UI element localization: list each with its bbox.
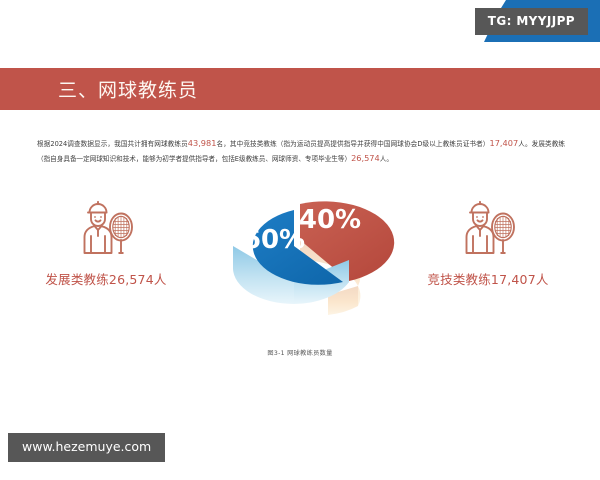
- total-coaches-value: 43,981: [188, 138, 217, 148]
- intro-segment-4: 人。: [380, 155, 393, 163]
- pie-chart-svg: 60% 40%: [178, 186, 414, 336]
- intro-segment-2: 名，其中竞技类教练（指为运动员提高提供指导并获得中国网球协会D级以上教练员证书者…: [216, 140, 489, 148]
- corner-logo-label: 中国网球事业 发展基础数据: [506, 231, 592, 250]
- pie-chart: 60% 40%: [178, 186, 414, 336]
- stat-label-competitive: 竞技类教练17,407人: [408, 269, 568, 288]
- competitive-coaches-value: 17,407: [490, 138, 519, 148]
- section-header-band: 三、网球教练员: [0, 68, 600, 110]
- intro-segment-1: 根据2024调查数据显示，我国共计拥有网球教练员: [37, 140, 188, 148]
- intro-paragraph: 根据2024调查数据显示，我国共计拥有网球教练员43,981名，其中竞技类教练（…: [37, 136, 565, 166]
- page-title: 三、网球教练员: [58, 76, 198, 103]
- coach-racket-icon: [449, 196, 527, 262]
- pie-label-competitive: 40%: [299, 205, 361, 235]
- site-watermark: www.hezemuye.com: [8, 433, 165, 463]
- chart-caption: 图3-1 网球教练员数量: [0, 348, 600, 357]
- development-coaches-value: 26,574: [351, 153, 380, 163]
- stat-label-development: 发展类教练26,574人: [26, 269, 186, 288]
- coach-racket-icon: [67, 196, 145, 262]
- pie-label-development: 60%: [243, 225, 305, 255]
- telegram-watermark-badge: TG: MYYJJPP: [475, 8, 588, 35]
- stat-block-development: 发展类教练26,574人: [26, 196, 186, 288]
